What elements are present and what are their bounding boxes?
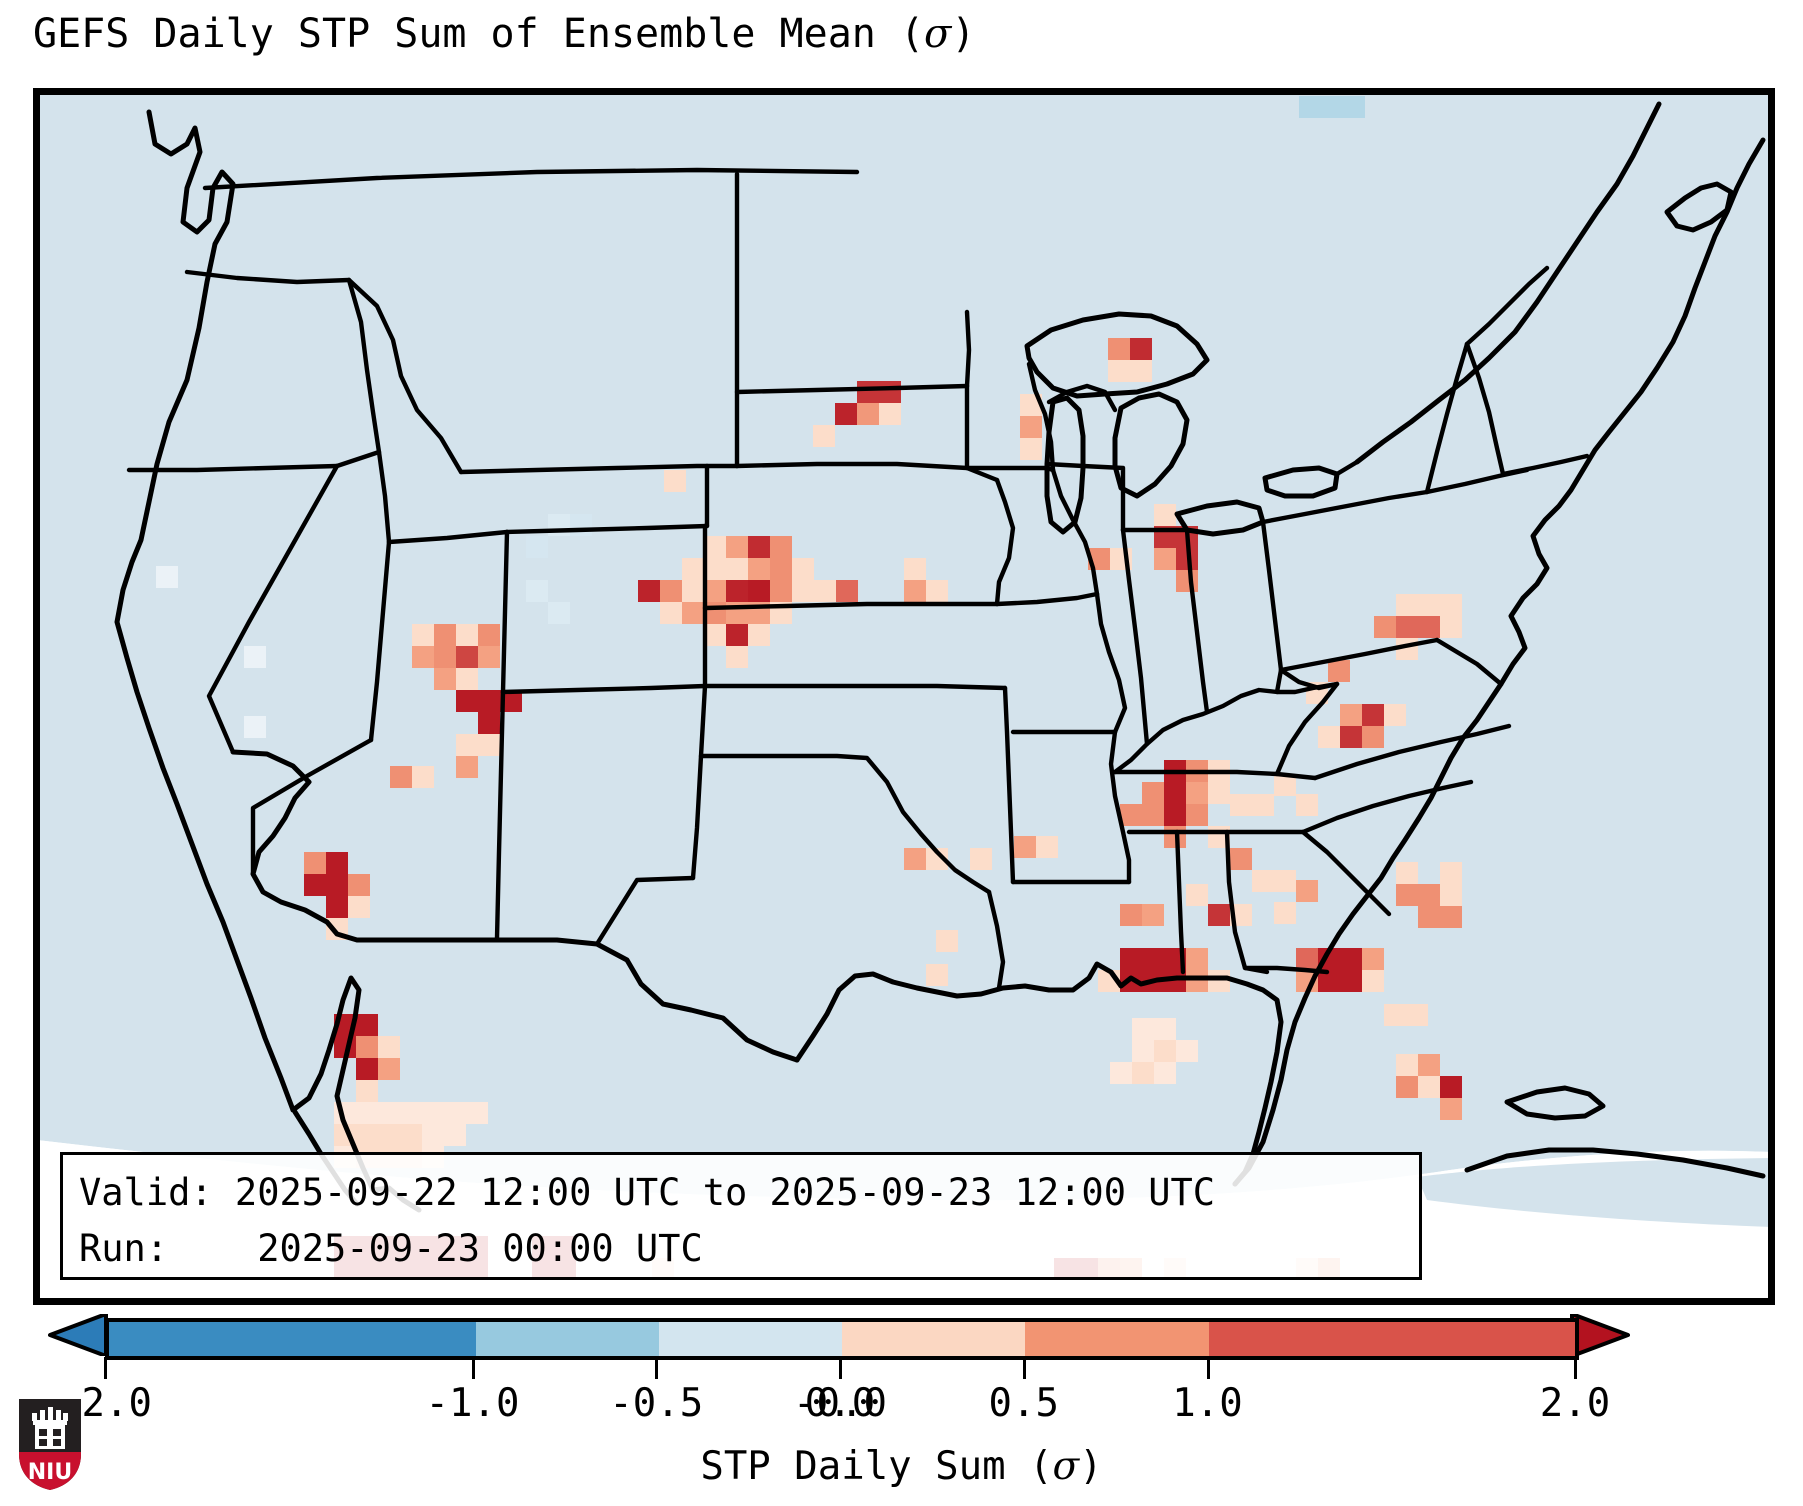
data-cell bbox=[1120, 948, 1142, 970]
data-cell bbox=[1396, 594, 1418, 616]
data-cell bbox=[1362, 704, 1384, 726]
data-cell bbox=[1252, 794, 1274, 816]
data-cell bbox=[1132, 1018, 1154, 1040]
data-cell bbox=[466, 1102, 488, 1124]
data-cell bbox=[1296, 880, 1318, 902]
data-cell bbox=[444, 1124, 466, 1146]
colorbar-tick bbox=[1023, 1357, 1026, 1379]
data-cell bbox=[1296, 794, 1318, 816]
data-cell bbox=[1130, 338, 1152, 360]
data-cell bbox=[434, 668, 456, 690]
data-cell bbox=[704, 624, 726, 646]
data-cell bbox=[1396, 862, 1418, 884]
data-cell bbox=[304, 874, 326, 896]
data-cell bbox=[1396, 1076, 1418, 1098]
data-cell bbox=[1120, 904, 1142, 926]
data-cell bbox=[835, 403, 857, 425]
data-cell bbox=[857, 381, 879, 403]
data-cell bbox=[792, 580, 814, 602]
colorbar[interactable]: STP Daily Sum (σ) -2.0-1.0-0.5-0.00.00.5… bbox=[0, 1305, 1803, 1506]
data-cell bbox=[422, 1102, 444, 1124]
data-cell bbox=[1318, 726, 1340, 748]
data-cell bbox=[1440, 616, 1462, 638]
colorbar-ticks bbox=[0, 1357, 1803, 1381]
colorbar-sigma-symbol: σ bbox=[1053, 1444, 1080, 1489]
data-cell bbox=[1362, 970, 1384, 992]
data-cell bbox=[356, 1014, 378, 1036]
data-cell bbox=[1252, 870, 1274, 892]
data-cell bbox=[1154, 1062, 1176, 1084]
data-cell bbox=[1132, 1040, 1154, 1062]
data-cell bbox=[156, 566, 178, 588]
data-cell bbox=[704, 602, 726, 624]
data-cell bbox=[356, 1058, 378, 1080]
data-cell bbox=[456, 690, 478, 712]
data-cell bbox=[1440, 884, 1462, 906]
data-cell bbox=[1164, 804, 1186, 826]
data-cell bbox=[356, 1036, 378, 1058]
colorbar-segment bbox=[1025, 1322, 1208, 1356]
data-cell bbox=[1418, 884, 1440, 906]
data-cell bbox=[348, 874, 370, 896]
data-cell bbox=[1154, 1018, 1176, 1040]
colorbar-tick-label: 0.5 bbox=[989, 1381, 1059, 1426]
data-cell bbox=[836, 580, 858, 602]
data-cell bbox=[444, 1102, 466, 1124]
data-cell bbox=[770, 536, 792, 558]
data-cell bbox=[748, 580, 770, 602]
data-cell bbox=[1186, 884, 1208, 906]
data-cell bbox=[1164, 782, 1186, 804]
data-cell bbox=[1142, 804, 1164, 826]
data-cell bbox=[936, 930, 958, 952]
data-cell bbox=[570, 514, 592, 536]
data-cell bbox=[1132, 1062, 1154, 1084]
data-cell bbox=[244, 646, 266, 668]
colorbar-label-close: ) bbox=[1079, 1444, 1102, 1489]
data-cell bbox=[1362, 726, 1384, 748]
data-cell bbox=[1274, 870, 1296, 892]
data-cell bbox=[879, 381, 901, 403]
data-cell bbox=[660, 602, 682, 624]
data-cell bbox=[356, 1080, 378, 1102]
data-cell bbox=[326, 874, 348, 896]
colorbar-segment bbox=[842, 1322, 1025, 1356]
data-cell bbox=[526, 536, 548, 558]
colorbar-axis-label: STP Daily Sum (σ) bbox=[0, 1444, 1803, 1489]
data-cell bbox=[356, 1124, 378, 1146]
data-cell bbox=[1374, 616, 1396, 638]
data-cell bbox=[682, 602, 704, 624]
data-cell bbox=[1186, 970, 1208, 992]
niu-logo: NIU bbox=[16, 1396, 84, 1492]
colorbar-tick bbox=[1574, 1357, 1577, 1379]
data-cell bbox=[1208, 970, 1230, 992]
border-ia-mn bbox=[967, 468, 1053, 470]
data-cell bbox=[1321, 96, 1343, 118]
colorbar-tick bbox=[104, 1357, 107, 1379]
colorbar-segment bbox=[109, 1322, 476, 1356]
data-cell bbox=[1108, 360, 1130, 382]
data-cell bbox=[1418, 616, 1440, 638]
data-cell bbox=[1396, 1054, 1418, 1076]
data-cell bbox=[1328, 660, 1350, 682]
colorbar-gradient[interactable] bbox=[105, 1318, 1579, 1360]
data-cell bbox=[326, 852, 348, 874]
data-cell bbox=[478, 690, 500, 712]
data-cell bbox=[434, 624, 456, 646]
page-title-text: GEFS Daily STP Sum of Ensemble Mean ( bbox=[33, 11, 924, 57]
data-cell bbox=[682, 558, 704, 580]
data-cell bbox=[704, 580, 726, 602]
data-cell bbox=[682, 580, 704, 602]
data-cell bbox=[326, 896, 348, 918]
data-cell bbox=[1343, 96, 1365, 118]
data-cell bbox=[1154, 1040, 1176, 1062]
data-cell bbox=[400, 1124, 422, 1146]
page-title-close: ) bbox=[951, 11, 975, 57]
data-cell bbox=[926, 580, 948, 602]
data-cell bbox=[400, 1102, 422, 1124]
data-cell bbox=[422, 1124, 444, 1146]
sigma-symbol: σ bbox=[924, 11, 951, 57]
data-cell bbox=[1154, 504, 1176, 526]
data-cell bbox=[356, 1102, 378, 1124]
data-cell bbox=[770, 580, 792, 602]
data-cell bbox=[904, 558, 926, 580]
data-cell bbox=[1142, 782, 1164, 804]
data-cell bbox=[412, 624, 434, 646]
data-cell bbox=[726, 558, 748, 580]
colorbar-segment bbox=[476, 1322, 659, 1356]
data-cell bbox=[660, 580, 682, 602]
data-cell bbox=[1396, 884, 1418, 906]
data-cell bbox=[304, 852, 326, 874]
data-cell bbox=[456, 624, 478, 646]
data-cell bbox=[1108, 338, 1130, 360]
data-cell bbox=[1120, 804, 1142, 826]
map-canvas[interactable] bbox=[37, 92, 1771, 1301]
data-cell bbox=[1340, 726, 1362, 748]
data-cell bbox=[1208, 904, 1230, 926]
data-cell bbox=[1440, 1098, 1462, 1120]
data-cell bbox=[1440, 906, 1462, 928]
data-cell bbox=[704, 558, 726, 580]
valid-time-info-box: Valid: 2025-09-22 12:00 UTC to 2025-09-2… bbox=[60, 1152, 1422, 1280]
data-cell bbox=[726, 646, 748, 668]
colorbar-tick-label: -0.5 bbox=[609, 1381, 703, 1426]
data-cell bbox=[478, 734, 500, 756]
map-axes[interactable] bbox=[33, 88, 1775, 1305]
data-cell bbox=[748, 536, 770, 558]
data-cell bbox=[526, 580, 548, 602]
colorbar-tick-label: 2.0 bbox=[1540, 1381, 1610, 1426]
data-cell bbox=[726, 580, 748, 602]
data-cell bbox=[1014, 836, 1036, 858]
data-cell bbox=[1440, 1076, 1462, 1098]
data-cell bbox=[814, 580, 836, 602]
data-cell bbox=[1186, 804, 1208, 826]
data-cell bbox=[1296, 948, 1318, 970]
data-cell bbox=[970, 848, 992, 870]
niu-logo-text: NIU bbox=[28, 1460, 72, 1485]
page-title: GEFS Daily STP Sum of Ensemble Mean (σ) bbox=[33, 14, 975, 54]
colorbar-tick-label: 1.0 bbox=[1172, 1381, 1242, 1426]
colorbar-label-text: STP Daily Sum ( bbox=[700, 1444, 1052, 1489]
data-cell bbox=[378, 1036, 400, 1058]
colorbar-under-arrow bbox=[48, 1314, 100, 1356]
data-cell bbox=[456, 668, 478, 690]
run-line: Run: 2025-09-23 00:00 UTC bbox=[79, 1227, 703, 1270]
data-cell bbox=[478, 712, 500, 734]
data-cell bbox=[1130, 360, 1152, 382]
border-nd-mn bbox=[967, 312, 969, 386]
data-cell bbox=[904, 848, 926, 870]
data-cell bbox=[770, 558, 792, 580]
data-cell bbox=[1440, 862, 1462, 884]
data-cell bbox=[456, 646, 478, 668]
data-cell bbox=[1440, 594, 1462, 616]
data-cell bbox=[857, 403, 879, 425]
data-cell bbox=[478, 646, 500, 668]
valid-line: Valid: 2025-09-22 12:00 UTC to 2025-09-2… bbox=[79, 1171, 1215, 1214]
data-cell bbox=[1176, 1040, 1198, 1062]
data-cell bbox=[1110, 1062, 1132, 1084]
data-cell bbox=[1230, 848, 1252, 870]
colorbar-segment bbox=[1209, 1322, 1576, 1356]
data-cell bbox=[879, 403, 901, 425]
data-cell bbox=[1340, 948, 1362, 970]
data-cell bbox=[664, 470, 686, 492]
data-cell bbox=[1230, 794, 1252, 816]
data-cell bbox=[638, 580, 660, 602]
data-cell bbox=[456, 756, 478, 778]
colorbar-tick bbox=[839, 1357, 842, 1379]
data-cell bbox=[1418, 1076, 1440, 1098]
data-cell bbox=[1418, 906, 1440, 928]
land-fill bbox=[37, 92, 1771, 1200]
data-cell bbox=[1384, 704, 1406, 726]
data-cell bbox=[1418, 594, 1440, 616]
data-cell bbox=[378, 1102, 400, 1124]
data-cell bbox=[244, 716, 266, 738]
data-cell bbox=[1036, 836, 1058, 858]
colorbar-tick bbox=[1207, 1357, 1210, 1379]
data-cell bbox=[1176, 570, 1198, 592]
data-cell bbox=[378, 1124, 400, 1146]
colorbar-tick-label: 0.0 bbox=[805, 1381, 875, 1426]
data-cell bbox=[1142, 904, 1164, 926]
data-cell bbox=[748, 558, 770, 580]
data-cell bbox=[434, 646, 456, 668]
data-cell bbox=[1274, 902, 1296, 924]
data-cell bbox=[813, 425, 835, 447]
data-cell bbox=[748, 624, 770, 646]
data-cell bbox=[1208, 782, 1230, 804]
colorbar-segment bbox=[659, 1322, 842, 1356]
data-cell bbox=[1340, 704, 1362, 726]
data-cell bbox=[1020, 438, 1042, 460]
data-cell bbox=[378, 1058, 400, 1080]
data-cell bbox=[904, 580, 926, 602]
data-cell bbox=[726, 624, 748, 646]
data-cell bbox=[1418, 1054, 1440, 1076]
data-cell bbox=[1186, 782, 1208, 804]
border-ks-ok bbox=[705, 686, 1005, 688]
data-cell bbox=[412, 766, 434, 788]
data-cell bbox=[726, 536, 748, 558]
data-cell bbox=[1154, 548, 1176, 570]
data-cell bbox=[478, 624, 500, 646]
data-cell bbox=[1299, 96, 1321, 118]
data-cell bbox=[1384, 1004, 1406, 1026]
data-cell bbox=[1340, 970, 1362, 992]
colorbar-tick bbox=[472, 1357, 475, 1379]
data-cell bbox=[1406, 1004, 1428, 1026]
data-cell bbox=[704, 536, 726, 558]
data-cell bbox=[1020, 416, 1042, 438]
colorbar-tick-label: -1.0 bbox=[426, 1381, 520, 1426]
data-cell bbox=[1396, 616, 1418, 638]
data-cell bbox=[390, 766, 412, 788]
data-cell bbox=[1142, 948, 1164, 970]
data-cell bbox=[348, 896, 370, 918]
colorbar-tick bbox=[655, 1357, 658, 1379]
data-cell bbox=[1362, 948, 1384, 970]
data-cell bbox=[1186, 948, 1208, 970]
data-cell bbox=[412, 646, 434, 668]
data-cell bbox=[456, 734, 478, 756]
data-cell bbox=[926, 964, 948, 986]
data-cell bbox=[548, 602, 570, 624]
data-cell bbox=[792, 558, 814, 580]
